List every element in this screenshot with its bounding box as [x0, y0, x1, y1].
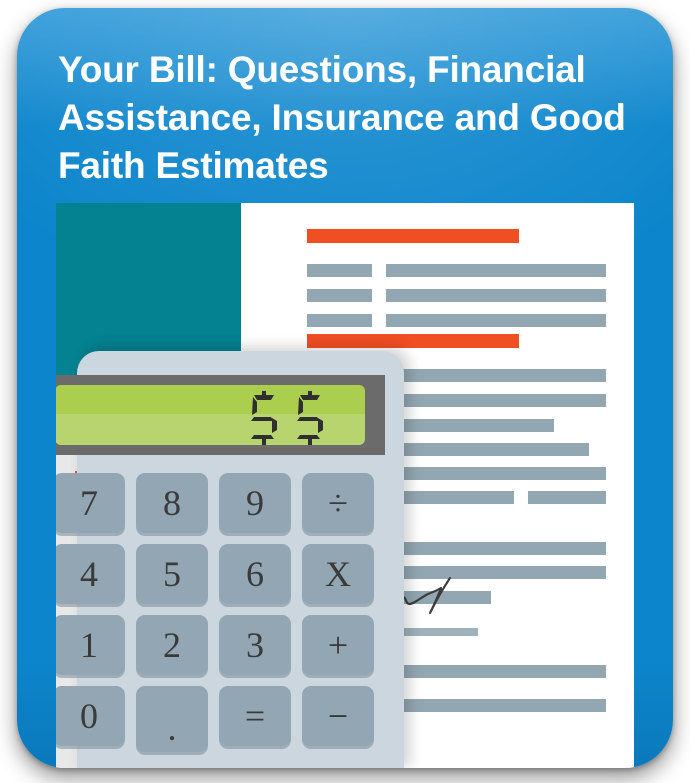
text-line: [307, 264, 372, 277]
text-line: [307, 314, 372, 327]
key-decimal[interactable]: .: [136, 686, 208, 752]
calculator[interactable]: 7 8 9 ÷ 4 5 6 X 1 2 3 +: [77, 351, 404, 768]
keypad-row: 1 2 3 +: [56, 615, 403, 675]
key-5[interactable]: 5: [136, 544, 208, 604]
illustration-artwork: 7 8 9 ÷ 4 5 6 X 1 2 3 +: [56, 203, 634, 768]
text-line: [385, 443, 589, 456]
key-2[interactable]: 2: [136, 615, 208, 675]
key-6[interactable]: 6: [219, 544, 291, 604]
keypad-row: 0 . = −: [56, 686, 403, 752]
section-heading-bar: [307, 334, 519, 348]
text-line: [386, 264, 606, 277]
text-line: [307, 289, 372, 302]
page-title: Your Bill: Questions, Financial Assistan…: [58, 46, 650, 190]
key-7[interactable]: 7: [56, 473, 125, 533]
key-minus[interactable]: −: [302, 686, 374, 746]
key-9[interactable]: 9: [219, 473, 291, 533]
keypad-row: 7 8 9 ÷: [56, 473, 403, 533]
text-line: [528, 491, 606, 504]
display-value-dollar-signs: [56, 385, 365, 445]
text-line: [386, 314, 606, 327]
calculator-display: [56, 385, 365, 445]
keypad-row: 4 5 6 X: [56, 544, 403, 604]
key-3[interactable]: 3: [219, 615, 291, 675]
key-multiply[interactable]: X: [302, 544, 374, 604]
key-4[interactable]: 4: [56, 544, 125, 604]
key-1[interactable]: 1: [56, 615, 125, 675]
key-8[interactable]: 8: [136, 473, 208, 533]
illustration-card-screenshot: Your Bill: Questions, Financial Assistan…: [0, 0, 690, 783]
key-plus[interactable]: +: [302, 615, 374, 675]
text-line: [386, 289, 606, 302]
section-heading-bar: [307, 229, 519, 243]
info-card: Your Bill: Questions, Financial Assistan…: [17, 8, 673, 768]
calculator-keypad[interactable]: 7 8 9 ÷ 4 5 6 X 1 2 3 +: [56, 473, 403, 763]
key-0[interactable]: 0: [56, 686, 125, 746]
key-equals[interactable]: =: [219, 686, 291, 746]
key-divide[interactable]: ÷: [302, 473, 374, 533]
